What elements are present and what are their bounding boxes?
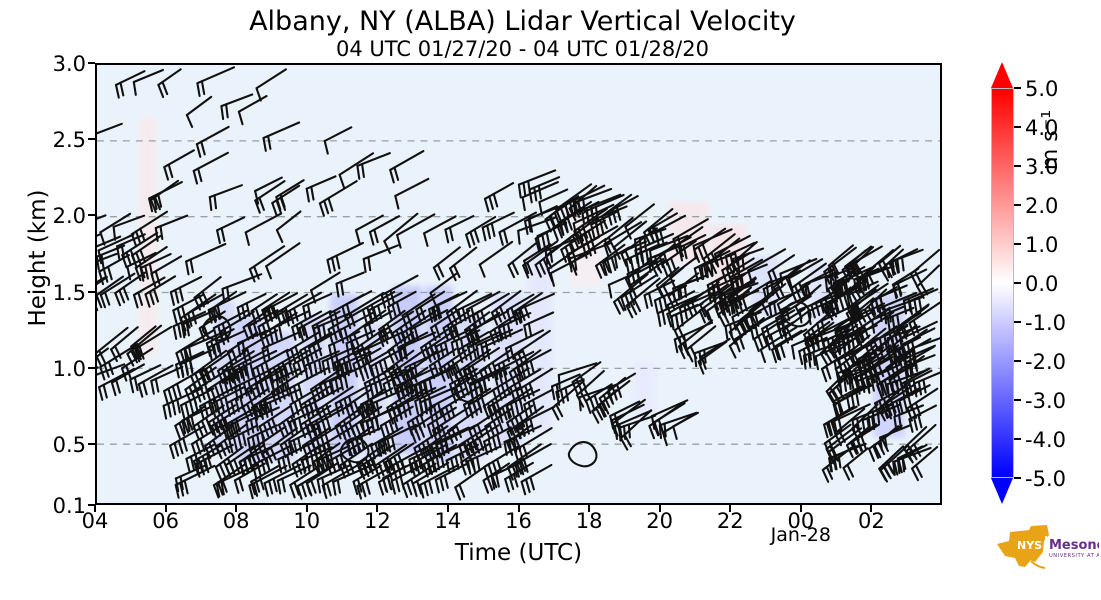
chart-title: Albany, NY (ALBA) Lidar Vertical Velocit… (0, 6, 1045, 37)
velocity-cell (139, 118, 157, 354)
x-tick-label: 10 (293, 509, 320, 533)
colorbar-extend-max-icon (991, 62, 1013, 88)
x-tick-label: 18 (576, 509, 603, 533)
colorbar-tick-mark (1014, 477, 1021, 479)
velocity-cell (263, 332, 295, 462)
colorbar-tick-label: -2.0 (1025, 350, 1066, 374)
x-tick-label: 04 (82, 509, 109, 533)
velocity-cell (302, 316, 327, 453)
colorbar-tick-label: -5.0 (1025, 467, 1066, 491)
velocity-cell (750, 256, 778, 317)
y-tick-mark (88, 291, 95, 293)
velocity-cell (492, 294, 524, 446)
logo-mesonet-text: Mesonet (1049, 538, 1099, 553)
velocity-cell (425, 286, 453, 461)
colorbar-tick-label: -1.0 (1025, 311, 1066, 335)
colorbar-tick-mark (1014, 204, 1021, 206)
velocity-cell (633, 362, 654, 415)
y-tick-label: 1.0 (53, 357, 86, 381)
velocity-cell (669, 202, 708, 263)
colorbar-tick-mark (1014, 282, 1021, 284)
velocity-cell (457, 316, 485, 458)
y-tick-label: 3.0 (53, 52, 86, 76)
colorbar-extend-min-icon (991, 478, 1013, 504)
colorbar-tick-mark (1014, 126, 1021, 128)
colorbar-gradient (991, 88, 1014, 478)
x-tick-label: 16 (505, 509, 532, 533)
x-tick-label: 08 (223, 509, 250, 533)
velocity-cell (570, 210, 602, 286)
colorbar-tick-label: 0.0 (1025, 272, 1058, 296)
velocity-shading (97, 65, 940, 503)
colorbar-tick-label: 1.0 (1025, 233, 1058, 257)
colorbar-tick-mark (1014, 399, 1021, 401)
y-tick-mark (88, 443, 95, 445)
velocity-cell (235, 316, 263, 461)
colorbar-tick-mark (1014, 87, 1021, 89)
y-tick-mark (88, 214, 95, 216)
chart-subtitle: 04 UTC 01/27/20 - 04 UTC 01/28/20 (0, 37, 1045, 61)
y-tick-mark (88, 138, 95, 140)
x-tick-label: 22 (717, 509, 744, 533)
colorbar-tick-label: -4.0 (1025, 428, 1066, 452)
velocity-cell (711, 225, 746, 301)
colorbar-tick-mark (1014, 438, 1021, 440)
logo-nys-text: NYS (1017, 539, 1042, 552)
colorbar-tick-mark (1014, 321, 1021, 323)
y-tick-label: 1.5 (53, 281, 86, 305)
x-tick-label: 02 (858, 509, 885, 533)
x-tick-label: 14 (435, 509, 462, 533)
colorbar-tick-mark (1014, 360, 1021, 362)
velocity-cell (362, 324, 387, 461)
velocity-cell (528, 240, 553, 431)
velocity-cell (213, 301, 234, 453)
velocity-cell (810, 263, 838, 324)
velocity-cell (393, 286, 421, 454)
nys-mesonet-logo: NYS Mesonet UNIVERSITY AT ALBANY (995, 522, 1099, 574)
y-tick-label: 0.5 (53, 433, 86, 457)
y-tick-mark (88, 367, 95, 369)
velocity-cell (330, 294, 358, 459)
y-tick-mark (88, 62, 95, 64)
colorbar-tick-mark (1014, 165, 1021, 167)
plot-area (95, 63, 942, 505)
x-tick-label: 06 (152, 509, 179, 533)
y-tick-label: 2.5 (53, 128, 86, 152)
colorbar-tick-mark (1014, 243, 1021, 245)
y-tick-label: 2.0 (53, 204, 86, 228)
x-tick-label: 12 (364, 509, 391, 533)
y-axis-label: Height (km) (25, 128, 51, 388)
colorbar-label: m s⁻¹ (1038, 70, 1063, 210)
colorbar-tick-label: -3.0 (1025, 389, 1066, 413)
x-tick-label: 20 (646, 509, 673, 533)
logo-tagline-text: UNIVERSITY AT ALBANY (1049, 553, 1099, 559)
velocity-cell (873, 294, 905, 439)
x-axis-label: Time (UTC) (95, 540, 942, 566)
